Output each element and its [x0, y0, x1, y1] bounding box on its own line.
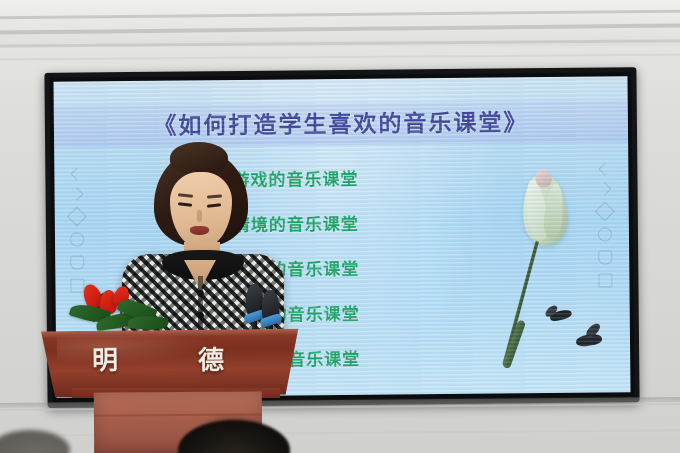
grid-icon[interactable]: [598, 273, 612, 287]
pen-icon[interactable]: [67, 207, 87, 227]
jacket-button: [197, 290, 204, 297]
pen-icon[interactable]: [595, 202, 615, 222]
flower-leaf: [127, 314, 168, 332]
speaker-mouth: [190, 226, 209, 235]
pointer-icon[interactable]: [598, 227, 612, 241]
chevron-right-icon[interactable]: [598, 183, 611, 196]
dragonfly-icon: [549, 308, 573, 322]
podium-sheen: [57, 335, 213, 364]
screen-icon[interactable]: [70, 255, 84, 269]
chevron-right-icon[interactable]: [70, 188, 83, 201]
presentation-photo-scene: 《如何打造学生喜欢的音乐课堂》 一融入游戏的音乐课堂 二创设情境的音乐课堂 三多…: [0, 0, 680, 453]
slide-title: 《如何打造学生喜欢的音乐课堂》: [54, 102, 628, 142]
slideshow-toolbar-right[interactable]: [594, 164, 615, 310]
podium-character-left: 明: [92, 340, 121, 377]
pointer-icon[interactable]: [70, 232, 84, 246]
speaker-nose: [197, 210, 202, 222]
jacket-button: [197, 312, 204, 319]
flower-arrangement: [66, 280, 178, 338]
screen-icon[interactable]: [598, 250, 612, 264]
speaker-hair-top: [170, 142, 228, 174]
ceiling-panel: [0, 0, 680, 46]
podium-character-right: 德: [198, 340, 227, 377]
chevron-left-icon[interactable]: [598, 163, 611, 176]
chevron-left-icon[interactable]: [70, 168, 83, 181]
dragonfly-icon: [575, 333, 602, 348]
